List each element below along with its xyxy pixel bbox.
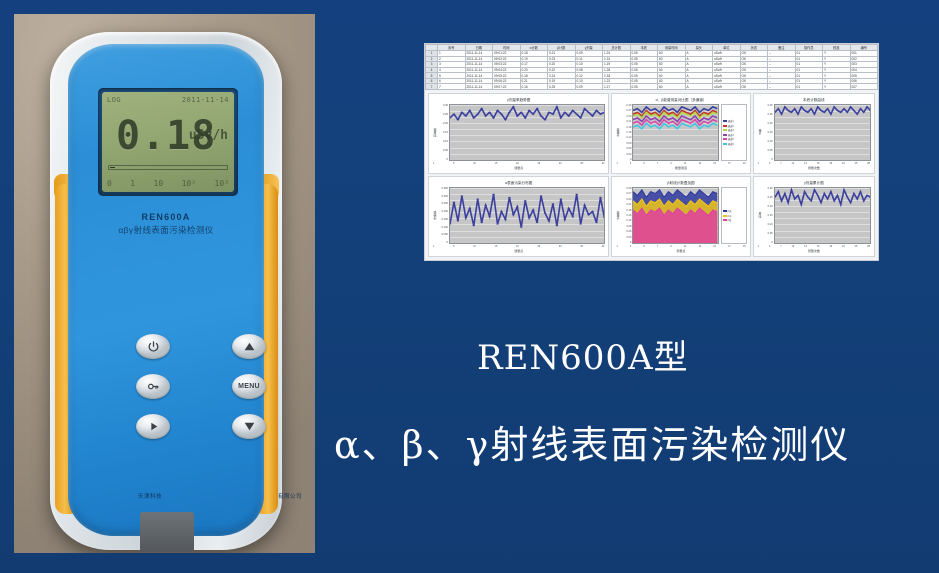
table-cell[interactable]: 2011-11-14 xyxy=(465,84,493,90)
key-button[interactable] xyxy=(136,374,170,399)
chart-y-tick: 0.25 xyxy=(443,113,448,116)
chart-y-tick: 0.050 xyxy=(442,233,449,236)
chart-data-point xyxy=(460,195,463,196)
chart-data-point xyxy=(866,195,868,196)
table-cell[interactable]: 01 xyxy=(795,84,823,90)
chart-legend-swatch xyxy=(723,219,727,221)
chart-data-point xyxy=(488,216,491,217)
chart-legend-item[interactable]: β低 xyxy=(723,218,745,222)
chart-x-tick: 13 xyxy=(698,245,701,248)
chart-data-point xyxy=(595,110,598,111)
chart-data-point xyxy=(563,219,566,220)
chart-x-tick: 5 xyxy=(453,245,454,248)
menu-button-label: MENU xyxy=(238,383,260,390)
lcd-scale: 0 1 10 10² 10³ xyxy=(107,179,229,188)
play-icon xyxy=(147,420,160,433)
chart-data-point xyxy=(579,224,582,225)
chart-data-point xyxy=(524,117,527,118)
chart-y-tick: 0.10 xyxy=(443,140,448,143)
chart-data-point xyxy=(797,114,799,115)
chart-data-point xyxy=(450,224,451,225)
chart-series-svg xyxy=(633,188,717,243)
chart-data-point xyxy=(846,197,848,198)
chart-y-tick: 0.10 xyxy=(768,223,773,226)
chart-legend-item[interactable]: 通道5 xyxy=(723,137,745,141)
chart-x-tick: 20 xyxy=(516,245,519,248)
chart-data-point xyxy=(826,108,828,109)
chart-title: α、β能谱测量对比图（多通道） xyxy=(615,97,746,104)
up-button[interactable] xyxy=(232,334,266,359)
table-row[interactable]: 772011-11-1409:07:220.160.250.091.270.05… xyxy=(426,84,878,90)
chart-y-ticks: 0.300.250.200.150.100.050 xyxy=(438,104,449,161)
chart-data-point xyxy=(484,205,487,206)
chart-data-point xyxy=(863,200,865,201)
chart-data-point xyxy=(556,225,559,226)
table-cell[interactable]: uSv/h xyxy=(713,84,741,90)
table-cell[interactable]: 0.25 xyxy=(548,84,576,90)
chart-data-point xyxy=(807,112,809,113)
chart-x-tick: 40 xyxy=(602,162,605,165)
chart-legend: 通道1通道2通道3通道4通道5通道6 xyxy=(721,104,747,161)
chart-legend-item[interactable]: 通道4 xyxy=(723,133,745,137)
chart-series-svg xyxy=(775,105,870,160)
chart-x-axis-label: 测量点 xyxy=(432,249,605,254)
chart-data-point xyxy=(575,194,578,195)
chart-y-tick: 0.18 xyxy=(626,126,631,129)
chart-legend-swatch xyxy=(723,134,727,136)
chart-data-point xyxy=(544,213,547,214)
chart-legend-item[interactable]: β中 xyxy=(723,214,745,218)
chart-legend-swatch xyxy=(723,143,727,145)
chart-data-point xyxy=(863,112,865,113)
chart-legend-swatch xyxy=(723,125,727,127)
chart-data-point xyxy=(823,193,825,194)
chart-y-tick: 0.100 xyxy=(442,226,449,229)
chart-grid: γ剂量率趋势图剂量率0.300.250.200.150.100.05015101… xyxy=(425,90,878,260)
chart-x-tick: 4 xyxy=(769,245,770,248)
table-body: 112011-11-1409:01:220.180.210.091.240.05… xyxy=(426,51,878,90)
chart-data-point xyxy=(520,112,523,113)
chart-data-point xyxy=(480,108,483,109)
chart-y-tick: 0.10 xyxy=(768,140,773,143)
lcd-bezel: LOG 2011-11-14 0.18 uSv/h 0 1 10 10² 10³ xyxy=(98,88,238,196)
device-faceplate: LOG 2011-11-14 0.18 uSv/h 0 1 10 10² 10³ xyxy=(68,44,264,536)
chart-body: 计数率0.300.270.240.210.180.150.120.090.060… xyxy=(615,104,746,161)
lcd-scale-tick: 0 xyxy=(107,179,112,188)
chart-data-point xyxy=(790,189,792,190)
chart-data-point xyxy=(540,195,543,196)
chart-y-tick: 0.20 xyxy=(768,122,773,125)
chart-data-point xyxy=(536,222,539,223)
chart-y-ticks: 0.300.270.240.210.180.150.120.090.060.03… xyxy=(621,187,632,244)
table-cell[interactable]: 0.09 xyxy=(575,84,603,90)
chart-legend-label: β中 xyxy=(728,214,732,218)
chart-data-point xyxy=(583,205,586,206)
chart-data-point xyxy=(472,117,475,118)
lcd-scale-tick: 10² xyxy=(182,179,196,188)
table-cell[interactable]: A xyxy=(685,84,713,90)
chart-y-ticks: 0.3500.3000.2500.2000.1500.1000.0500 xyxy=(438,187,449,244)
chart-x-tick: 25 xyxy=(855,162,858,165)
chart-data-point xyxy=(563,112,566,113)
chart-y-axis-label: 计数 xyxy=(757,104,763,161)
power-button[interactable] xyxy=(136,334,170,359)
chart-series-svg xyxy=(450,105,604,160)
chart-data-point xyxy=(453,202,456,203)
chart-x-tick: 4 xyxy=(769,162,770,165)
chart-legend-label: 通道5 xyxy=(728,137,734,141)
chart-plot-area xyxy=(632,104,718,161)
chart-card: α、β能谱测量对比图（多通道）计数率0.300.270.240.210.180.… xyxy=(611,93,750,174)
triangle-up-icon xyxy=(243,341,256,352)
chart-x-tick: 1 xyxy=(758,162,759,165)
chart-title: γ剂量率趋势图 xyxy=(432,97,605,104)
chart-card: 本底计数曲线计数0.300.250.200.150.100.0501471013… xyxy=(753,93,875,174)
table-cell[interactable]: 7 xyxy=(438,84,466,90)
chart-data-point xyxy=(484,116,487,117)
chart-x-tick: 10 xyxy=(473,162,476,165)
chart-data-point xyxy=(843,108,845,109)
chart-data-point xyxy=(817,195,819,196)
chart-x-tick: 13 xyxy=(804,162,807,165)
table-cell[interactable]: OK xyxy=(740,84,768,90)
chart-y-axis-label: 剂量率 xyxy=(432,104,438,161)
chart-y-tick: 0.21 xyxy=(626,120,631,123)
chart-data-point xyxy=(803,110,805,111)
chart-x-tick: 11 xyxy=(684,245,686,248)
chart-x-tick: 16 xyxy=(817,162,820,165)
chart-data-point xyxy=(457,119,460,120)
table-cell[interactable]: 0.16 xyxy=(520,84,548,90)
chart-card: γ剂量率趋势图剂量率0.300.250.200.150.100.05015101… xyxy=(428,93,609,174)
chart-data-point xyxy=(540,116,543,117)
chart-x-tick: 17 xyxy=(728,245,731,248)
chart-card: β射线计数叠加图计数率0.300.270.240.210.180.150.120… xyxy=(611,176,750,257)
chart-x-tick: 7 xyxy=(657,162,658,165)
chart-legend-label: β高 xyxy=(728,209,732,213)
poster-title-description: α、β、γ射线表面污染检测仪 xyxy=(334,414,850,469)
chart-y-tick: 0.27 xyxy=(626,109,631,112)
poster-root: LOG 2011-11-14 0.18 uSv/h 0 1 10 10² 10³ xyxy=(0,0,939,573)
chart-title: 本底计数曲线 xyxy=(757,97,871,104)
chart-legend-item[interactable]: 通道2 xyxy=(723,124,745,128)
chart-data-point xyxy=(833,200,835,201)
chart-x-tick: 13 xyxy=(804,245,807,248)
chart-data-point xyxy=(603,217,604,218)
chart-data-point xyxy=(790,112,792,113)
chart-x-tick: 10 xyxy=(473,245,476,248)
table-row-header[interactable]: 7 xyxy=(426,84,438,90)
chart-x-tick: 3 xyxy=(630,245,631,248)
chart-x-tick: 1 xyxy=(433,245,434,248)
chart-data-point xyxy=(595,222,598,223)
chart-data-point xyxy=(567,208,570,209)
chart-data-point xyxy=(567,116,570,117)
chart-x-tick: 17 xyxy=(728,162,731,165)
chart-y-tick: 0.06 xyxy=(626,230,631,233)
chart-y-tick: 0.15 xyxy=(626,214,631,217)
chart-data-point xyxy=(849,106,851,107)
product-photo: LOG 2011-11-14 0.18 uSv/h 0 1 10 10² 10³ xyxy=(14,14,315,553)
chart-x-tick: 25 xyxy=(537,245,540,248)
chart-x-tick: 15 xyxy=(495,162,498,165)
chart-data-point xyxy=(496,224,499,225)
table-cell[interactable]: 09:07:22 xyxy=(493,84,521,90)
chart-x-tick: 15 xyxy=(713,245,716,248)
chart-y-tick: 0.30 xyxy=(626,187,631,190)
chart-y-axis-label: 剂量 xyxy=(757,187,763,244)
device-footer-labels: 天津科技 有限公司 xyxy=(122,492,315,500)
chart-legend-swatch xyxy=(723,210,727,212)
chart-y-tick: 0.12 xyxy=(626,136,631,139)
chart-data-point xyxy=(836,195,838,196)
chart-data-point xyxy=(552,203,555,204)
chart-legend-item[interactable]: 通道3 xyxy=(723,128,745,132)
chart-y-tick: 0.05 xyxy=(768,149,773,152)
chart-y-ticks: 0.300.250.200.150.100.050 xyxy=(763,187,774,244)
chart-data-point xyxy=(777,191,779,192)
chart-data-point xyxy=(559,199,562,200)
chart-data-point xyxy=(508,197,511,198)
lcd-status-right: 2011-11-14 xyxy=(182,96,229,104)
table-cell[interactable]: Y xyxy=(823,84,851,90)
chart-data-point xyxy=(784,106,786,107)
chart-data-point xyxy=(528,217,531,218)
chart-x-tick: 22 xyxy=(842,245,845,248)
chart-series-svg xyxy=(775,188,870,243)
chart-y-tick: 0.200 xyxy=(442,210,449,213)
chart-x-tick: 40 xyxy=(602,245,605,248)
chart-y-tick: 0.21 xyxy=(626,203,631,206)
chart-data-point xyxy=(794,199,796,200)
chart-plot-area xyxy=(632,187,718,244)
device-description-label: αβγ射线表面污染检测仪 xyxy=(68,224,264,236)
chart-plot-area xyxy=(449,104,605,161)
chart-x-axis-label: 测量次数 xyxy=(757,249,871,254)
chart-data-point xyxy=(587,214,590,215)
chart-legend-label: 通道3 xyxy=(728,128,734,132)
chart-data-point xyxy=(800,106,802,107)
device-model-label: REN600A xyxy=(68,212,264,222)
table-cell[interactable]: 60 xyxy=(658,84,686,90)
poster-title-model: REN600A型 xyxy=(477,330,689,379)
device-footer-label-left: 天津科技 xyxy=(138,492,162,500)
chart-legend-label: 通道6 xyxy=(728,142,734,146)
chart-data-point xyxy=(532,114,535,115)
chart-data-point xyxy=(476,114,479,115)
chart-x-tick: 16 xyxy=(817,245,820,248)
chart-y-tick: 0.03 xyxy=(626,236,631,239)
chart-plot-area xyxy=(774,187,871,244)
chart-data-point xyxy=(787,202,789,203)
chart-y-tick: 0.150 xyxy=(442,218,449,221)
chart-data-point xyxy=(859,191,861,192)
chart-data-point xyxy=(472,225,475,226)
chart-data-point xyxy=(780,114,782,115)
chart-x-tick: 19 xyxy=(743,162,746,165)
chart-data-point xyxy=(817,106,819,107)
chart-x-tick: 19 xyxy=(829,162,832,165)
device-keypad: MENU xyxy=(122,332,315,442)
chart-data-point xyxy=(587,112,590,113)
chart-body: 污染值0.3500.3000.2500.2000.1500.1000.0500 xyxy=(432,187,605,244)
lcd-scale-tick: 10³ xyxy=(215,179,229,188)
chart-x-tick: 28 xyxy=(867,162,870,165)
chart-x-tick: 10 xyxy=(792,245,795,248)
chart-data-point xyxy=(777,108,779,109)
chart-data-point xyxy=(571,216,574,217)
chart-title: α表面污染分布图 xyxy=(432,180,605,187)
chart-data-point xyxy=(548,112,551,113)
chart-x-tick: 35 xyxy=(580,245,583,248)
chart-line-series xyxy=(775,107,870,114)
chart-data-point xyxy=(559,117,562,118)
device-footer-label-right: 有限公司 xyxy=(278,492,302,500)
chart-x-tick: 15 xyxy=(495,245,498,248)
chart-data-point xyxy=(516,116,519,117)
chart-series-svg xyxy=(633,105,717,160)
chart-legend-item[interactable]: β高 xyxy=(723,209,745,213)
chart-x-tick: 1 xyxy=(616,245,617,248)
chart-x-tick: 7 xyxy=(780,245,781,248)
chart-data-point xyxy=(575,114,578,115)
chart-y-tick: 0.30 xyxy=(626,104,631,107)
chart-data-point xyxy=(833,106,835,107)
chart-legend: β高β中β低 xyxy=(721,187,747,244)
chart-x-tick: 28 xyxy=(867,245,870,248)
chart-x-axis-label: 测量点 xyxy=(615,249,746,254)
chart-title: β射线计数叠加图 xyxy=(615,180,746,187)
chart-y-tick: 0.05 xyxy=(768,232,773,235)
chart-y-tick: 0.25 xyxy=(768,196,773,199)
chart-data-point xyxy=(492,117,495,118)
chart-y-tick: 0.15 xyxy=(768,214,773,217)
chart-x-tick: 5 xyxy=(643,245,644,248)
chart-data-point xyxy=(780,200,782,201)
chart-data-point xyxy=(536,108,539,109)
power-icon xyxy=(147,340,160,353)
chart-legend-swatch xyxy=(723,215,727,217)
chart-line-series xyxy=(775,190,870,205)
lcd-bargraph xyxy=(108,165,228,170)
chart-x-tick: 25 xyxy=(855,245,858,248)
chart-data-point xyxy=(813,189,815,190)
chart-legend-swatch xyxy=(723,129,727,131)
chart-data-point xyxy=(488,112,491,113)
chart-data-point xyxy=(853,110,855,111)
chart-data-point xyxy=(810,200,812,201)
chart-data-point xyxy=(552,114,555,115)
chart-data-point xyxy=(492,194,495,195)
chart-x-tick: 1 xyxy=(758,245,759,248)
down-button[interactable] xyxy=(232,414,266,439)
chart-y-tick: 0.15 xyxy=(768,131,773,134)
chart-legend-item[interactable]: 通道6 xyxy=(723,142,745,146)
chart-y-tick: 0.12 xyxy=(626,219,631,222)
menu-button[interactable]: MENU xyxy=(232,374,266,399)
chart-legend-label: 通道4 xyxy=(728,133,734,137)
chart-data-point xyxy=(810,108,812,109)
chart-y-tick: 0.20 xyxy=(768,205,773,208)
software-screenshot-panel: 序号日期时间α计数β计数γ剂量总计数本底测量时间探头单位状态备注操作员校准编号 … xyxy=(424,43,879,261)
chart-y-tick: 0.24 xyxy=(626,198,631,201)
chart-data-point xyxy=(840,112,842,113)
chart-x-axis-label: 测量次数 xyxy=(757,166,871,171)
lcd-scale-tick: 1 xyxy=(130,179,135,188)
table-cell[interactable]: -- xyxy=(768,84,796,90)
chart-y-tick: 0.27 xyxy=(626,192,631,195)
chart-x-tick: 3 xyxy=(630,162,631,165)
chart-data-point xyxy=(830,191,832,192)
chart-data-point xyxy=(512,214,515,215)
chart-x-tick: 20 xyxy=(516,162,519,165)
table-cell[interactable]: 007 xyxy=(850,84,878,90)
chart-data-point xyxy=(571,110,574,111)
chart-data-point xyxy=(579,117,582,118)
chart-y-tick: 0.05 xyxy=(443,149,448,152)
table-cell[interactable]: 0.05 xyxy=(630,84,658,90)
chart-card: α表面污染分布图污染值0.3500.3000.2500.2000.1500.10… xyxy=(428,176,609,257)
chart-legend-label: β低 xyxy=(728,218,732,222)
play-button[interactable] xyxy=(136,414,170,439)
chart-y-tick: 0.09 xyxy=(626,225,631,228)
chart-y-tick: 0.15 xyxy=(443,131,448,134)
lcd-status-row: LOG 2011-11-14 xyxy=(107,96,229,104)
chart-data-point xyxy=(524,200,527,201)
chart-x-tick: 35 xyxy=(580,162,583,165)
chart-body: 计数率0.300.270.240.210.180.150.120.090.060… xyxy=(615,187,746,244)
chart-x-axis-label: 能量通道 xyxy=(615,166,746,171)
chart-y-tick: 0.300 xyxy=(442,195,449,198)
chart-x-tick: 30 xyxy=(559,162,562,165)
chart-data-point xyxy=(856,114,858,115)
chart-data-point xyxy=(468,208,471,209)
chart-line-series xyxy=(450,194,604,227)
table-cell[interactable]: 1.27 xyxy=(603,84,631,90)
chart-data-point xyxy=(813,114,815,115)
chart-title: γ剂量累计图 xyxy=(757,180,871,187)
chart-data-point xyxy=(800,204,802,205)
chart-x-tick: 13 xyxy=(698,162,701,165)
chart-data-point xyxy=(840,204,842,205)
lcd-scale-tick: 10 xyxy=(154,179,164,188)
chart-plot-area xyxy=(449,187,605,244)
chart-data-point xyxy=(504,119,507,120)
chart-x-tick: 22 xyxy=(842,162,845,165)
chart-y-tick: 0.06 xyxy=(626,147,631,150)
chart-x-tick: 10 xyxy=(792,162,795,165)
chart-data-point xyxy=(544,119,547,120)
chart-data-point xyxy=(453,114,456,115)
device-brand-block: REN600A αβγ射线表面污染检测仪 xyxy=(68,212,264,236)
chart-data-point xyxy=(797,195,799,196)
measurement-data-table: 序号日期时间α计数β计数γ剂量总计数本底测量时间探头单位状态备注操作员校准编号 … xyxy=(425,44,878,90)
lcd-reading-unit: uSv/h xyxy=(189,128,228,143)
chart-data-point xyxy=(820,110,822,111)
chart-legend-item[interactable]: 通道1 xyxy=(723,119,745,123)
chart-y-tick: 0.250 xyxy=(442,202,449,205)
chart-x-tick: 1 xyxy=(616,162,617,165)
chart-data-point xyxy=(548,221,551,222)
chart-data-point xyxy=(468,110,471,111)
chart-data-point xyxy=(591,116,594,117)
chart-card: γ剂量累计图剂量0.300.250.200.150.100.0501471013… xyxy=(753,176,875,257)
chart-data-point xyxy=(866,106,868,107)
lcd-status-left: LOG xyxy=(107,96,121,104)
chart-series-svg xyxy=(450,188,604,243)
chart-data-point xyxy=(512,106,515,107)
chart-data-point xyxy=(787,110,789,111)
